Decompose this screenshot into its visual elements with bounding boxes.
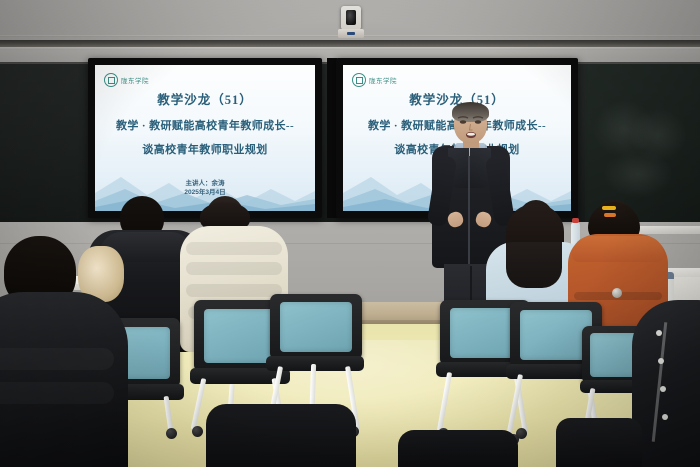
chair-leg	[506, 374, 523, 438]
slide-left: 陇东学院 教学沙龙（51） 教学 · 教研赋能高校青年教师成长-- 谈高校青年教…	[95, 65, 315, 211]
chalk-smudge	[603, 150, 673, 198]
puffer-hood	[572, 236, 664, 262]
presenter-face-features	[454, 112, 488, 140]
audience-hair-front	[506, 204, 562, 288]
puffer-seam	[0, 382, 114, 404]
logo-text: 陇东学院	[121, 75, 149, 85]
university-emblem-icon	[104, 73, 118, 87]
camera-led-icon	[347, 32, 355, 35]
slide-speaker-line: 主讲人：余涛	[95, 179, 315, 188]
slide-body-left: 教学沙龙（51） 教学 · 教研赋能高校青年教师成长-- 谈高校青年教师职业规划	[95, 89, 315, 157]
jacket-stud-icon	[656, 330, 662, 336]
chalkboard-right	[585, 64, 700, 222]
chair-leg	[437, 372, 452, 432]
slide-logo: 陇东学院	[104, 73, 149, 87]
puffer-button-icon	[612, 288, 622, 298]
chair-mesh	[280, 302, 352, 352]
jacket-stud-icon	[662, 414, 668, 420]
jacket-stud-icon	[658, 358, 664, 364]
audience-lower-body	[556, 418, 642, 467]
presenter-zipper	[468, 156, 470, 264]
wall-rail	[0, 40, 700, 47]
jacket-stud-icon	[660, 386, 666, 392]
ceiling-camera	[338, 6, 364, 39]
chair-leg	[191, 378, 207, 430]
university-emblem-icon	[352, 73, 366, 87]
display-screen-left[interactable]: 陇东学院 教学沙龙（51） 教学 · 教研赋能高校青年教师成长-- 谈高校青年教…	[88, 58, 322, 218]
puffer-seam	[0, 348, 114, 370]
puffer-seam	[186, 262, 282, 275]
audience-member-front-right	[632, 300, 700, 467]
slide-meta-left: 主讲人：余涛 2025年3月4日	[95, 179, 315, 197]
hair-clip-icon	[602, 206, 616, 210]
audience-torso	[0, 292, 128, 467]
audience-member-fur-hood	[0, 236, 128, 467]
camera-lens-icon	[346, 10, 356, 25]
slide-subtitle-line1: 教学 · 教研赋能高校青年教师成长--	[95, 117, 315, 133]
logo-text: 陇东学院	[369, 75, 397, 85]
audience-lower-body	[206, 404, 356, 467]
puffer-seam	[186, 242, 282, 255]
chair-caster	[192, 426, 203, 437]
slide-title: 教学沙龙（51）	[95, 89, 315, 108]
lecture-room-photo: 陇东学院 教学沙龙（51） 教学 · 教研赋能高校青年教师成长-- 谈高校青年教…	[0, 0, 700, 467]
chair-leg	[164, 396, 174, 432]
slide-logo: 陇东学院	[352, 73, 397, 87]
audience-lower-body	[398, 430, 518, 467]
hair-clip-icon	[604, 213, 616, 217]
chair-caster	[166, 428, 177, 439]
slide-subtitle-line2: 谈高校青年教师职业规划	[95, 141, 315, 157]
